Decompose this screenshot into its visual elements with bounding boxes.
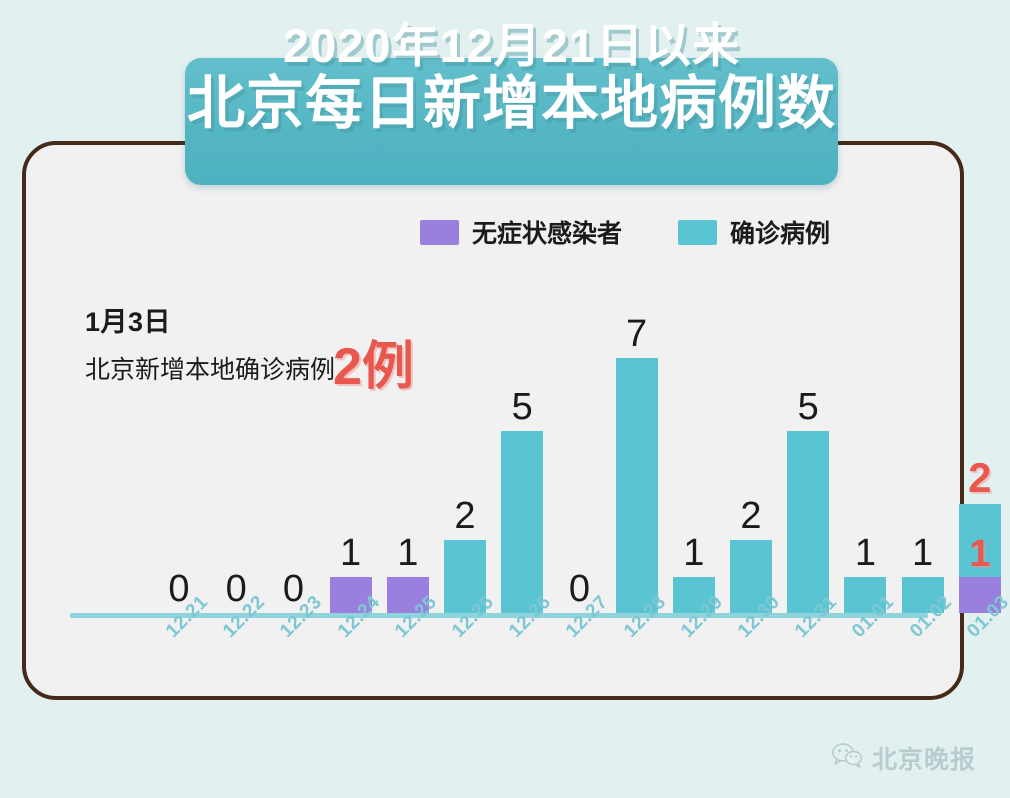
bar-value-label: 1 [683, 534, 704, 577]
bar-segment-confirmed [501, 431, 543, 614]
bar-12-26-6[interactable]: 5 [501, 431, 543, 614]
bar-value-label: 5 [512, 388, 533, 431]
chart-legend: 无症状感染者确诊病例 [420, 214, 830, 250]
legend-item-asymptomatic: 无症状感染者 [420, 214, 622, 250]
bar-inner-value: 1 [969, 535, 990, 573]
title-line-1: 2020年12月21日以来 [185, 22, 838, 70]
legend-label-asymptomatic: 无症状感染者 [472, 214, 622, 250]
watermark: 北京晚报 [832, 740, 976, 776]
infographic-root: 2020年12月21日以来 北京每日新增本地病例数 无症状感染者确诊病例 1月3… [0, 0, 1010, 798]
bar-value-label: 2 [454, 497, 475, 540]
bar-value-label: 1 [912, 534, 933, 577]
bar-segment-confirmed [787, 431, 829, 614]
wechat-icon [832, 743, 862, 773]
legend-swatch-asymptomatic [420, 220, 459, 245]
bar-12-28-8[interactable]: 7 [616, 358, 658, 614]
bar-value-label: 5 [798, 388, 819, 431]
watermark-label: 北京晚报 [872, 740, 976, 776]
bar-chart-plot: 012.21012.22012.23112.24112.25212.25512.… [70, 250, 930, 618]
bar-value-label: 2 [740, 497, 761, 540]
bar-value-label: 1 [855, 534, 876, 577]
legend-swatch-confirmed [678, 220, 717, 245]
page-title: 2020年12月21日以来 北京每日新增本地病例数 [185, 22, 838, 133]
legend-item-confirmed: 确诊病例 [678, 214, 830, 250]
bar-value-label: 7 [626, 315, 647, 358]
title-line-2: 北京每日新增本地病例数 [185, 74, 838, 133]
bar-12-31-11[interactable]: 5 [787, 431, 829, 614]
bar-segment-confirmed [616, 358, 658, 614]
bar-value-label: 2 [968, 457, 991, 504]
legend-label-confirmed: 确诊病例 [730, 214, 830, 250]
bar-value-label: 1 [340, 534, 361, 577]
bar-segment-confirmed: 1 [959, 504, 1001, 577]
bar-value-label: 1 [397, 534, 418, 577]
